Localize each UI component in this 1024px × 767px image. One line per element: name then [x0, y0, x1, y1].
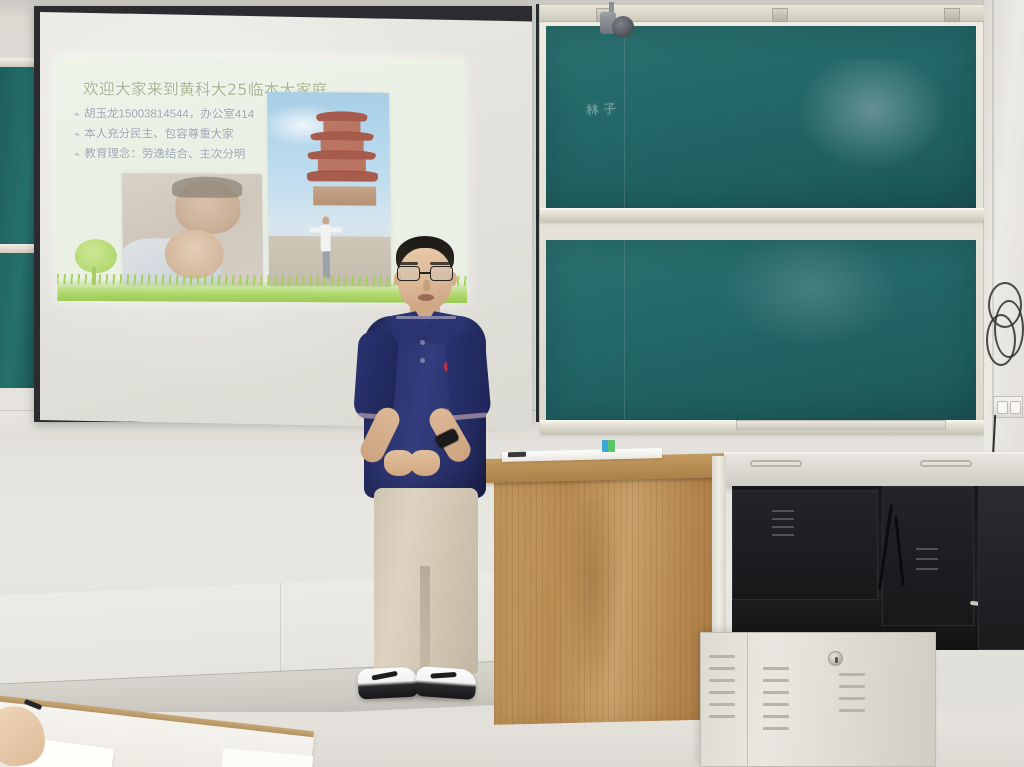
glasses-bridge: [420, 272, 430, 274]
chalkboard-glare: [795, 59, 950, 172]
av-vent: [916, 568, 938, 570]
cabinet-vent: [709, 691, 735, 694]
lectern-body: [494, 475, 724, 725]
bullet-marker-icon: ❧: [73, 105, 80, 122]
presenter-nose: [423, 280, 430, 291]
glasses-lens-right: [430, 266, 453, 281]
lock-icon[interactable]: [828, 651, 843, 666]
shoe-stripe: [430, 672, 456, 679]
av-unit: [732, 490, 878, 600]
cabinet-vent: [709, 655, 735, 658]
photo-adult-hair: [172, 177, 242, 198]
pagoda-roof-4: [307, 171, 378, 182]
bullet-marker-icon: ❧: [74, 145, 81, 162]
track-clip: [944, 8, 960, 22]
bullet-marker-icon: ❧: [73, 125, 80, 142]
av-vent: [772, 518, 794, 520]
slide-bullet-text: 胡玉龙15003814544，办公室414: [84, 105, 254, 126]
presenter-mouth: [418, 294, 434, 301]
photo-baby-face: [165, 229, 224, 279]
presenter-hand-right: [410, 450, 440, 476]
av-vent: [916, 558, 938, 560]
photo-person-arms-out: [310, 216, 342, 278]
cabinet-vent: [763, 727, 789, 730]
equipment-cabinet[interactable]: [700, 632, 936, 767]
lectern: [486, 456, 734, 724]
pagoda-base: [313, 186, 377, 206]
presenter-shoe-right: [415, 666, 477, 700]
cabinet-vent: [709, 667, 735, 670]
cabinet-vent: [709, 679, 735, 682]
cabinet-vent: [763, 691, 789, 694]
av-rack-cavity: [732, 486, 1024, 650]
chalkboard-writing: 林 子: [586, 103, 617, 119]
ceiling-camera-icon: [590, 2, 636, 42]
track-clip: [772, 8, 788, 22]
polo-button: [420, 358, 425, 363]
support-post: [712, 456, 726, 636]
chalkboard-seam: [624, 240, 625, 422]
presenter-eyebrow-right: [430, 262, 450, 265]
cabinet-vent: [763, 715, 789, 718]
cabinet-vent: [709, 703, 735, 706]
cable-coil: [986, 280, 1024, 390]
photo-man-with-baby: [122, 173, 263, 286]
left-chalkboard-rail-mid: [0, 244, 38, 253]
cabinet-divider: [747, 633, 748, 766]
presenter: [340, 236, 500, 726]
presenter-sleeve-right: [444, 330, 492, 421]
chalkboard-panel-lower: [546, 240, 976, 422]
slide-bullet-text: 本人充分民主、包容尊重大家: [84, 125, 234, 146]
cabinet-vent: [839, 685, 865, 688]
slide-bullet-text: 教育理念：劳逸结合、主次分明: [84, 145, 245, 166]
chalkboard-seam: [624, 26, 625, 208]
chalkboard-glare: [718, 240, 907, 349]
cabinet-vent: [839, 697, 865, 700]
photo-pagoda-tower: [306, 112, 378, 233]
av-vent: [916, 548, 938, 550]
shoe-stripe: [371, 671, 397, 681]
wall-outlet[interactable]: [993, 396, 1023, 418]
camera-lens: [612, 16, 634, 38]
binder-clip-icon: [508, 452, 526, 457]
shelf-handle[interactable]: [750, 460, 802, 467]
pagoda-roof-3: [308, 150, 376, 160]
cabinet-vent: [763, 703, 789, 706]
pagoda-roof-2: [311, 131, 373, 141]
mount-bracket: [736, 420, 946, 430]
glasses-lens-left: [397, 266, 420, 281]
lectern-wood-grain: [563, 497, 623, 703]
shelf-handle[interactable]: [920, 460, 972, 467]
marker-icon: [602, 440, 615, 452]
av-vent: [772, 510, 794, 512]
cabinet-vent: [839, 673, 865, 676]
left-chalkboard-rail-top: [0, 58, 38, 67]
trouser-leg-gap: [420, 566, 430, 678]
cable-loop: [994, 300, 1024, 358]
outlet-socket[interactable]: [997, 401, 1008, 414]
av-unit: [882, 486, 974, 626]
pagoda-roof-1: [316, 112, 367, 122]
chalkboard-rail-middle: [540, 208, 984, 221]
cabinet-vent: [709, 715, 735, 718]
av-shelf: [724, 452, 1024, 486]
av-vent: [772, 526, 794, 528]
polo-collar-trim: [396, 316, 456, 319]
outlet-socket[interactable]: [1010, 401, 1021, 414]
av-unit: [978, 486, 1024, 650]
presenter-eyebrow-left: [398, 262, 418, 265]
polo-button: [420, 340, 425, 345]
photo-person-arm-left: [310, 228, 321, 232]
chalkboard-panel-upper: 林 子: [546, 26, 976, 208]
av-vent: [772, 534, 794, 536]
cabinet-vent: [839, 709, 865, 712]
cabinet-vent: [763, 679, 789, 682]
presenter-shoe-left: [357, 666, 418, 699]
cabinet-vent: [763, 667, 789, 670]
classroom-scene: 欢迎大家来到黄科大25临本大家庭 ❧ 胡玉龙15003814544，办公室414…: [0, 0, 1024, 767]
photo-person-arm-right: [330, 228, 341, 232]
